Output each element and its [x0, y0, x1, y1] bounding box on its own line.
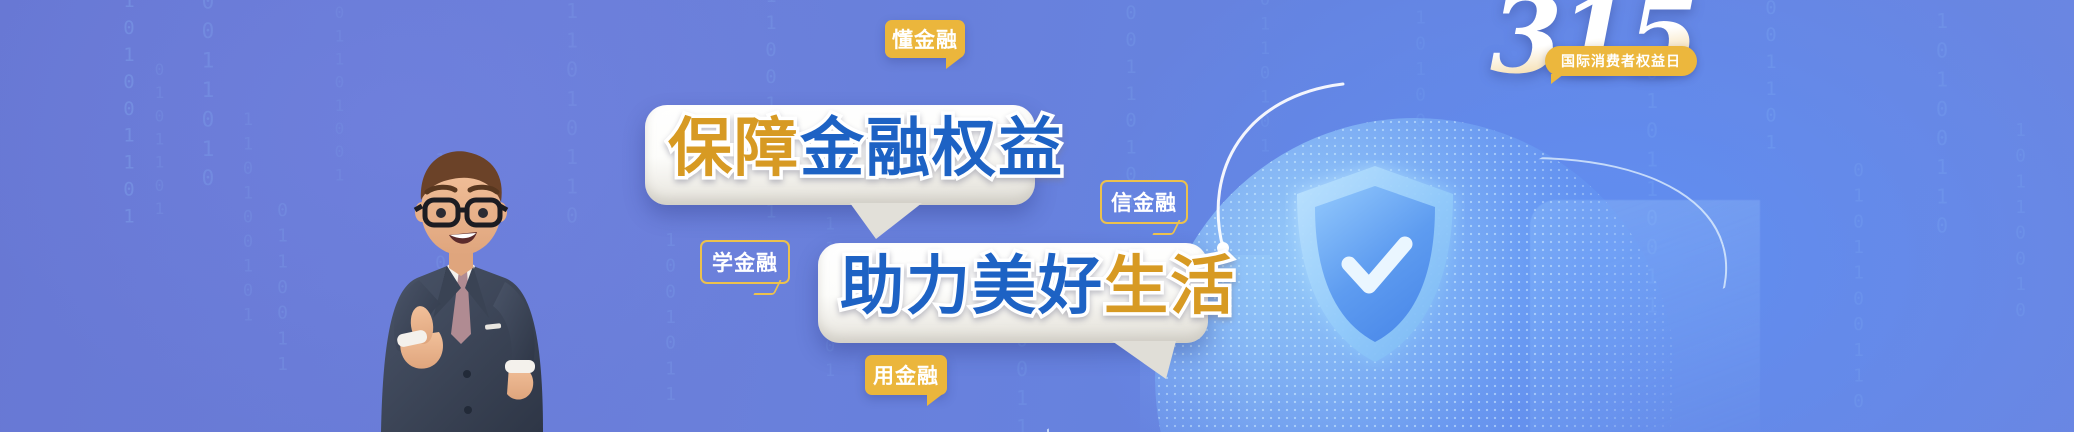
banner-315-financial-rights: 101001101 0101101 10011010 110100101 011… [0, 0, 2074, 432]
logo-315: 315 国际消费者权益日 [1480, 0, 1770, 104]
binary-column: 110100101 [238, 110, 258, 330]
headline-1-blue-text: 金融权益 [800, 112, 1064, 186]
binary-column: 0110011 [272, 200, 293, 380]
businessman-mascot [375, 128, 550, 432]
binary-column: 0101100110 [1848, 160, 1869, 417]
tag-xue-jinrong[interactable]: 学金融 [700, 240, 790, 284]
binary-column: 10011010 [196, 0, 220, 196]
tag-dong-jinrong[interactable]: 懂金融 [885, 20, 965, 58]
tag-xin-jinrong[interactable]: 信金融 [1100, 180, 1188, 224]
binary-column: 0101101 [150, 60, 169, 222]
security-shield-icon [1285, 160, 1465, 370]
headline-line-2: 助力美好生活 [840, 255, 1236, 319]
binary-column: 101101001 [330, 0, 349, 188]
headline-line-1: 保障金融权益 [668, 117, 1064, 181]
headline-2-blue-text: 助力美好 [840, 250, 1104, 324]
logo-315-badge: 国际消费者权益日 [1545, 46, 1697, 76]
binary-column: 10110010 [2010, 120, 2031, 325]
binary-column: 101001101 [118, 0, 140, 232]
binary-column: 1001011 [660, 230, 681, 410]
headline-1-gold-text: 保障 [668, 112, 800, 186]
binary-column: 011010110 [560, 0, 584, 233]
headline-2-gold-text: 生活 [1104, 250, 1236, 324]
tag-yong-jinrong[interactable]: 用金融 [865, 355, 947, 395]
binary-column: 110100110 [1930, 0, 1954, 243]
